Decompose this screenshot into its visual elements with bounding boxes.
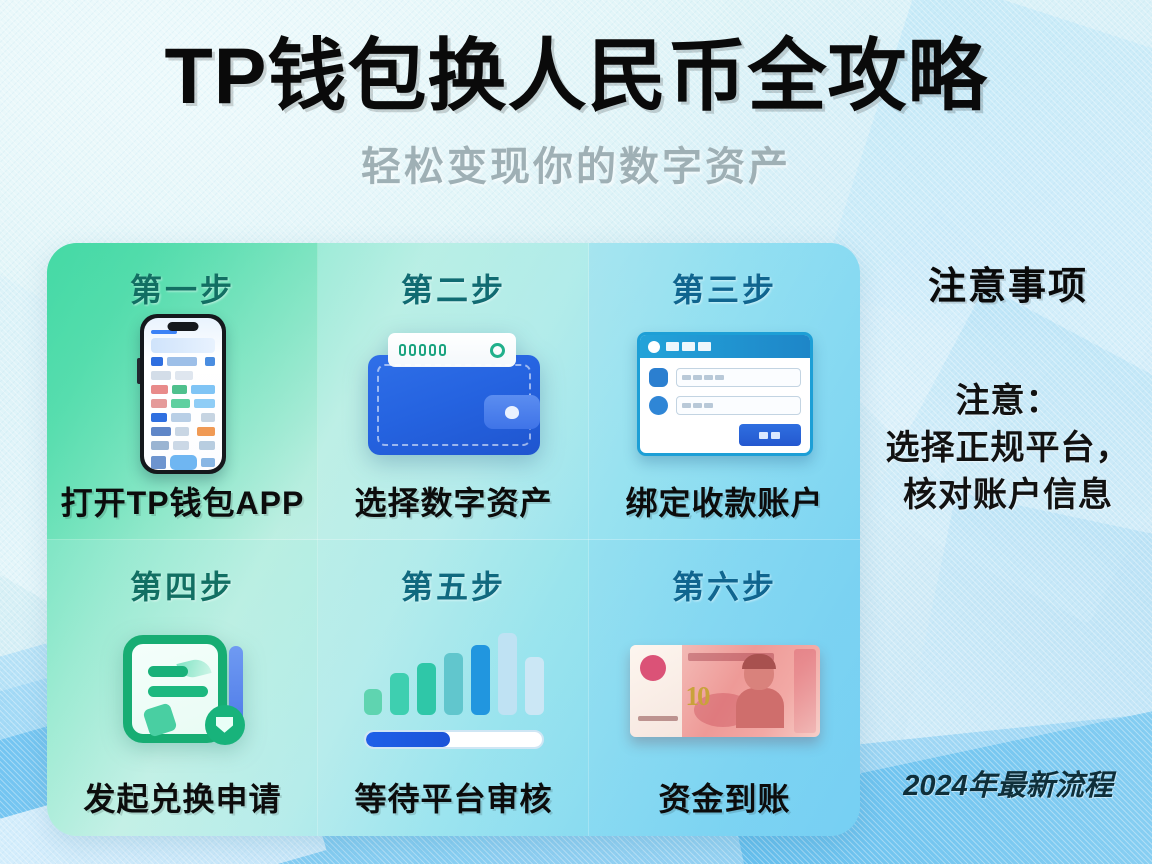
footer-note: 2024年最新流程 (872, 762, 1144, 804)
infographic-poster: TP钱包换人民币全攻略 轻松变现你的数字资产 第一步 (0, 0, 1152, 864)
step-caption-6: 资金到账 (658, 774, 790, 826)
step-art-4 (55, 608, 310, 775)
check-badge-icon (205, 705, 245, 745)
progress-chart-icon (364, 633, 544, 749)
page-subtitle: 轻松变现你的数字资产 (0, 134, 1152, 192)
step-label-1: 第一步 (130, 265, 235, 311)
step-card-4[interactable]: 第四步 发起兑换申请 (47, 540, 318, 837)
smartphone-icon (140, 314, 226, 474)
step-art-1 (55, 311, 310, 478)
step-label-2: 第二步 (401, 265, 506, 311)
step-label-6: 第六步 (672, 562, 777, 608)
step-card-1[interactable]: 第一步 (47, 243, 318, 540)
step-label-4: 第四步 (130, 562, 235, 608)
form-dialog-icon (637, 332, 813, 456)
step-card-2[interactable]: 第二步 选择数字资产 (318, 243, 589, 540)
notice-body: 注意： 选择正规平台， 核对账户信息 (872, 378, 1144, 519)
step-card-3[interactable]: 第三步 (589, 243, 860, 540)
step-art-6: 10 (597, 608, 852, 775)
step-label-5: 第五步 (401, 562, 506, 608)
step-caption-5: 等待平台审核 (354, 774, 552, 826)
submit-button[interactable] (739, 424, 801, 446)
step-card-6[interactable]: 第六步 10 资金到账 (589, 540, 860, 837)
notice-lead: 注意： (872, 378, 1144, 425)
wallet-icon (368, 333, 540, 455)
notice-title: 注意事项 (872, 255, 1144, 310)
password-input (676, 396, 801, 415)
step-caption-4: 发起兑换申请 (83, 774, 281, 826)
step-card-5[interactable]: 第五步 等待平台审核 (318, 540, 589, 837)
clipboard-icon (123, 635, 243, 747)
steps-grid: 第一步 (47, 243, 860, 836)
banknote-value: 10 (686, 681, 709, 712)
notice-panel: 注意事项 注意： 选择正规平台， 核对账户信息 (872, 255, 1144, 519)
step-art-3 (597, 311, 852, 478)
step-caption-1: 打开TP钱包APP (61, 478, 305, 530)
step-art-2 (326, 311, 581, 478)
notice-line-1: 选择正规平台， (872, 425, 1144, 472)
step-caption-2: 选择数字资产 (354, 478, 552, 530)
account-input (676, 368, 801, 387)
step-label-3: 第三步 (672, 265, 777, 311)
progress-bar (364, 730, 544, 749)
poster-header: TP钱包换人民币全攻略 轻松变现你的数字资产 (0, 34, 1152, 192)
step-caption-3: 绑定收款账户 (625, 478, 823, 530)
password-icon (649, 396, 668, 415)
bar-group (364, 633, 544, 715)
notice-line-2: 核对账户信息 (872, 472, 1144, 519)
dialog-logo-icon (648, 341, 660, 353)
account-icon (649, 368, 668, 387)
banknote-icon: 10 (630, 645, 820, 737)
step-art-5 (326, 608, 581, 775)
page-title: TP钱包换人民币全攻略 (0, 34, 1152, 118)
